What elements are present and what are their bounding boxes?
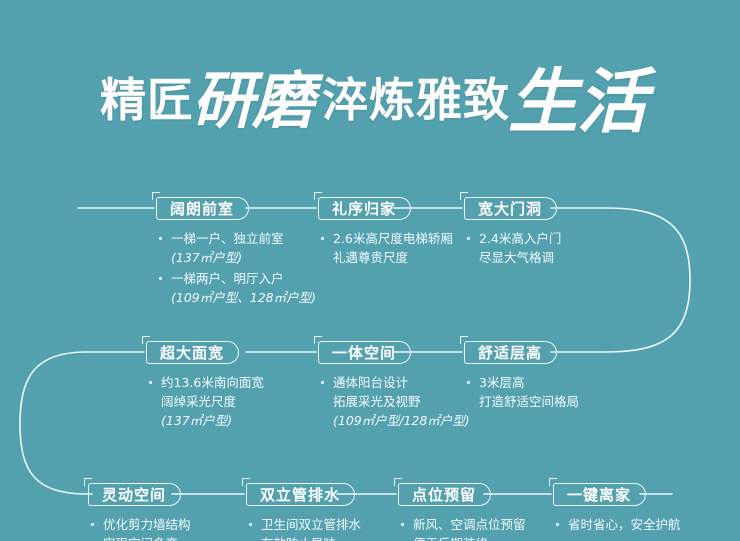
bullet-dot-icon (556, 523, 559, 526)
bullet-dot-icon (249, 523, 252, 526)
bullet-sub: 拓展采光及视野 (333, 392, 470, 411)
node-yijian-lijia[interactable]: 一键离家 省时省心，安全护航 (553, 483, 681, 536)
node-title-chip[interactable]: 灵动空间 (88, 483, 181, 506)
list-item: 新风、空调点位预留便于后期装修 (398, 515, 526, 541)
bullet-dot-icon (149, 381, 152, 384)
node-title-text: 舒适层高 (478, 344, 542, 362)
node-bullet-list: 新风、空调点位预留便于后期装修 (398, 515, 526, 541)
corner-bracket-icon (314, 192, 322, 200)
bullet-main: 通体阳台设计 (333, 375, 408, 390)
node-title-text: 点位预留 (412, 486, 476, 504)
list-item: 2.6米高尺度电梯轿厢礼遇尊贵尺度 (318, 229, 453, 267)
node-title-chip[interactable]: 舒适层高 (464, 341, 557, 364)
corner-bracket-icon (460, 336, 468, 344)
node-title-chip[interactable]: 双立管排水 (246, 483, 355, 506)
bullet-dot-icon (401, 523, 404, 526)
list-item: 省时省心，安全护航 (553, 515, 681, 534)
bullet-dot-icon (321, 381, 324, 384)
node-lixu-guijia[interactable]: 礼序归家 2.6米高尺度电梯轿厢礼遇尊贵尺度 (318, 197, 453, 269)
node-title-chip[interactable]: 一体空间 (318, 341, 411, 364)
node-kuanda-mendong[interactable]: 宽大门洞 2.4米高入户门尽显大气格调 (464, 197, 561, 269)
bullet-sub: 便于后期装修 (413, 534, 526, 541)
node-title-text: 灵动空间 (102, 486, 166, 504)
bullet-main: 卫生间双立管排水 (261, 517, 361, 532)
bullet-dot-icon (321, 237, 324, 240)
bullet-sub: 礼遇尊贵尺度 (333, 248, 453, 267)
list-item: 优化剪力墙结构实现空间多变 (88, 515, 191, 541)
corner-bracket-icon (394, 478, 402, 486)
list-item: 通体阳台设计拓展采光及视野(109㎡户型/128㎡户型) (318, 373, 470, 430)
bullet-sub: (109㎡户型、128㎡户型) (171, 288, 316, 307)
corner-bracket-icon (142, 336, 150, 344)
node-bullet-list: 通体阳台设计拓展采光及视野(109㎡户型/128㎡户型) (318, 373, 470, 430)
node-shushi-cenggao[interactable]: 舒适层高 3米层高打造舒适空间格局 (464, 341, 579, 413)
bullet-dot-icon (467, 237, 470, 240)
bullet-sub: 尽显大气格调 (479, 248, 561, 267)
infographic-canvas: 精匠研磨淬炼雅致生活 (0, 0, 740, 541)
bullet-main: 2.6米高尺度电梯轿厢 (333, 231, 453, 246)
corner-bracket-icon (549, 478, 557, 486)
bullet-sub2: (109㎡户型/128㎡户型) (333, 411, 470, 430)
line-right-uturn (606, 208, 690, 352)
node-title-text: 阔朗前室 (170, 200, 234, 218)
corner-bracket-icon (84, 478, 92, 486)
list-item: 一梯两户、明厅入户(109㎡户型、128㎡户型) (156, 269, 316, 307)
bullet-main: 优化剪力墙结构 (103, 517, 191, 532)
bullet-sub2: (137㎡户型) (161, 411, 264, 430)
bullet-main: 一梯两户、明厅入户 (171, 271, 284, 286)
line-left-uturn (20, 352, 86, 494)
corner-bracket-icon (242, 478, 250, 486)
corner-bracket-icon (152, 192, 160, 200)
bullet-sub: 打造舒适空间格局 (479, 392, 579, 411)
node-bullet-list: 2.4米高入户门尽显大气格调 (464, 229, 561, 267)
list-item: 约13.6米南向面宽阔绰采光尺度(137㎡户型) (146, 373, 264, 430)
node-bullet-list: 约13.6米南向面宽阔绰采光尺度(137㎡户型) (146, 373, 264, 430)
bullet-main: 约13.6米南向面宽 (161, 375, 264, 390)
bullet-sub: 有效防止异味 (261, 534, 361, 541)
node-bullet-list: 3米层高打造舒适空间格局 (464, 373, 579, 411)
list-item: 3米层高打造舒适空间格局 (464, 373, 579, 411)
node-title-chip[interactable]: 超大面宽 (146, 341, 239, 364)
node-title-chip[interactable]: 礼序归家 (318, 197, 411, 220)
list-item: 卫生间双立管排水有效防止异味 (246, 515, 361, 541)
node-kuolang-qianshi[interactable]: 阔朗前室 一梯一户、独立前室(137㎡户型) 一梯两户、明厅入户(109㎡户型、… (156, 197, 316, 309)
node-bullet-list: 一梯一户、独立前室(137㎡户型) 一梯两户、明厅入户(109㎡户型、128㎡户… (156, 229, 316, 307)
flow-connector-line (0, 0, 740, 541)
list-item: 一梯一户、独立前室(137㎡户型) (156, 229, 316, 267)
node-bullet-list: 省时省心，安全护航 (553, 515, 681, 534)
corner-bracket-icon (460, 192, 468, 200)
node-lingdong-kongjian[interactable]: 灵动空间 优化剪力墙结构实现空间多变 (88, 483, 191, 541)
bullet-main: 省时省心，安全护航 (568, 517, 681, 532)
bullet-dot-icon (159, 237, 162, 240)
bullet-dot-icon (467, 381, 470, 384)
bullet-dot-icon (159, 277, 162, 280)
node-bullet-list: 优化剪力墙结构实现空间多变 (88, 515, 191, 541)
bullet-main: 新风、空调点位预留 (413, 517, 526, 532)
node-title-text: 一体空间 (332, 344, 396, 362)
node-shuangliguan-paishui[interactable]: 双立管排水 卫生间双立管排水有效防止异味 (246, 483, 361, 541)
node-title-text: 双立管排水 (260, 486, 340, 504)
bullet-sub: 阔绰采光尺度 (161, 392, 264, 411)
node-yiti-kongjian[interactable]: 一体空间 通体阳台设计拓展采光及视野(109㎡户型/128㎡户型) (318, 341, 470, 432)
node-title-chip[interactable]: 宽大门洞 (464, 197, 557, 220)
node-title-text: 一键离家 (567, 486, 631, 504)
bullet-main: 一梯一户、独立前室 (171, 231, 284, 246)
node-dianwei-yuliu[interactable]: 点位预留 新风、空调点位预留便于后期装修 (398, 483, 526, 541)
bullet-main: 2.4米高入户门 (479, 231, 561, 246)
node-title-chip[interactable]: 点位预留 (398, 483, 491, 506)
node-bullet-list: 卫生间双立管排水有效防止异味 (246, 515, 361, 541)
list-item: 2.4米高入户门尽显大气格调 (464, 229, 561, 267)
node-chaoda-mianku[interactable]: 超大面宽 约13.6米南向面宽阔绰采光尺度(137㎡户型) (146, 341, 264, 432)
bullet-sub: 实现空间多变 (103, 534, 191, 541)
node-bullet-list: 2.6米高尺度电梯轿厢礼遇尊贵尺度 (318, 229, 453, 267)
bullet-main: 3米层高 (479, 375, 524, 390)
node-title-text: 超大面宽 (160, 344, 224, 362)
node-title-text: 礼序归家 (332, 200, 396, 218)
corner-bracket-icon (314, 336, 322, 344)
node-title-chip[interactable]: 一键离家 (553, 483, 646, 506)
bullet-sub: (137㎡户型) (171, 248, 316, 267)
node-title-chip[interactable]: 阔朗前室 (156, 197, 249, 220)
bullet-dot-icon (91, 523, 94, 526)
node-title-text: 宽大门洞 (478, 200, 542, 218)
